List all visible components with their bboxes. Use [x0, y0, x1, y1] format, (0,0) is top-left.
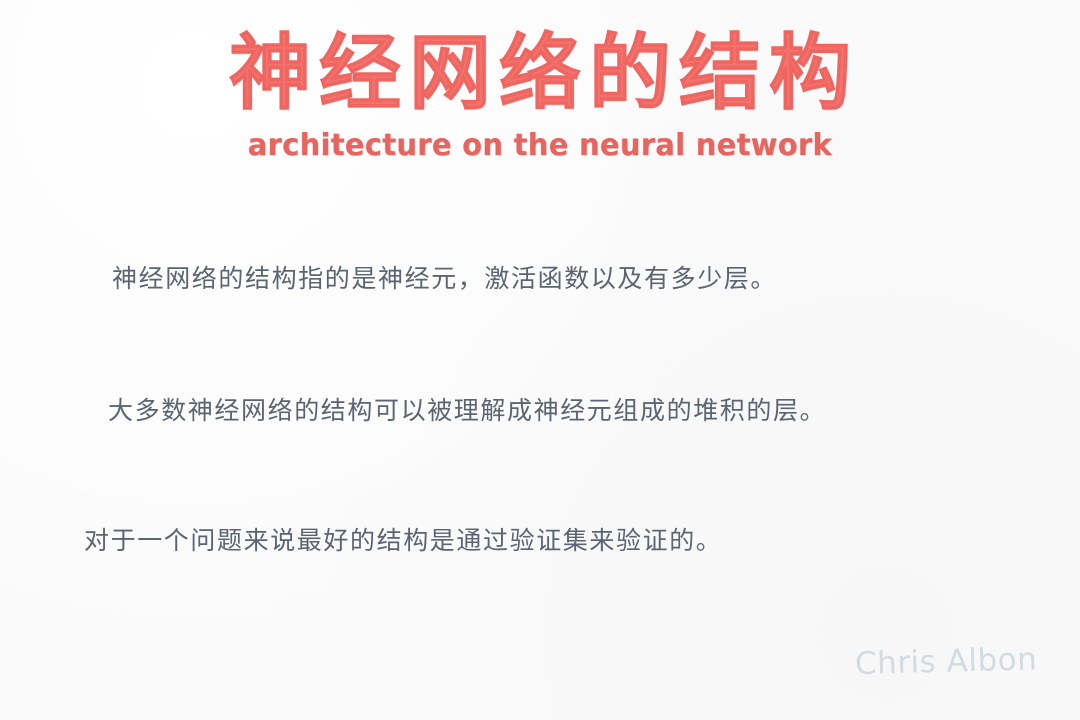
- page-title: 神经网络的结构: [0, 26, 1080, 122]
- slide-canvas: 神经网络的结构 architecture on the neural netwo…: [0, 0, 1080, 720]
- author-signature: Chris Albon: [854, 638, 1015, 686]
- body-line-3: 对于一个问题来说最好的结构是通过验证集来验证的。: [0, 524, 1080, 558]
- title-block: 神经网络的结构 architecture on the neural netwo…: [0, 26, 1080, 164]
- body-line-1: 神经网络的结构指的是神经元，激活函数以及有多少层。: [0, 262, 1080, 296]
- body-line-2: 大多数神经网络的结构可以被理解成神经元组成的堆积的层。: [0, 394, 1080, 428]
- page-subtitle: architecture on the neural network: [22, 128, 1059, 164]
- body-text-block: 神经网络的结构指的是神经元，激活函数以及有多少层。 大多数神经网络的结构可以被理…: [0, 262, 1080, 558]
